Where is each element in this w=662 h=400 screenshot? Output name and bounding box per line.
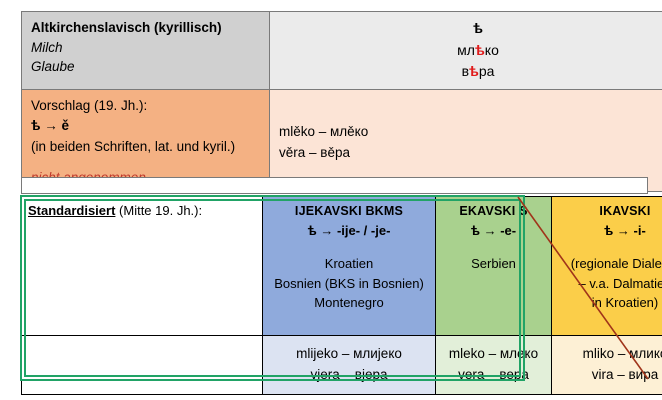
- ekavski-example-1: mleko – млеко: [442, 344, 545, 365]
- old-church-slavonic-label-cell: Altkirchenslavisch (kyrillisch) Milch Gl…: [22, 12, 270, 90]
- ikavski-name: IKAVSKI: [558, 202, 662, 221]
- word-mleko: млѣко: [279, 40, 662, 62]
- ikavski-examples-cell: mliko – млико vira – вира: [552, 336, 662, 395]
- proposal-example-1: mlěko – млěко: [279, 122, 662, 143]
- column-ekavski: EKAVSKI S ѣ → -e- Serbien: [436, 197, 552, 336]
- proposal-scope-note: (in beiden Schriften, lat. und kyril.): [31, 137, 260, 157]
- standardised-label-cell: Standardisiert (Mitte 19. Jh.):: [22, 197, 263, 336]
- ijekavski-regions: Kroatien Bosnien (BKS in Bosnien) Monten…: [269, 254, 429, 313]
- ijekavski-example-2: vjera – вјера: [269, 365, 429, 386]
- examples-empty-cell: [22, 336, 263, 395]
- ikavski-example-2: vira – вира: [558, 365, 662, 386]
- ekavski-examples-cell: mleko – млеко vera – вера: [436, 336, 552, 395]
- gloss-milch: Milch: [31, 38, 260, 58]
- ijekavski-name: IJEKAVSKI BKMS: [269, 202, 429, 221]
- ijekavski-examples-cell: mlijeko – млијеко vjera – вјера: [263, 336, 436, 395]
- table-row-dialect-examples: mlijeko – млијеко vjera – вјера mleko – …: [22, 336, 662, 395]
- gloss-glaube: Glaube: [31, 57, 260, 77]
- standardised-label: Standardisiert (Mitte 19. Jh.):: [28, 202, 256, 220]
- table-row-old-church-slavonic: Altkirchenslavisch (kyrillisch) Milch Gl…: [22, 12, 662, 90]
- old-church-slavonic-forms-cell: ѣ млѣко вѣра: [270, 12, 662, 90]
- standardised-label-bold: Standardisiert: [28, 203, 115, 218]
- ekavski-regions: Serbien: [442, 254, 545, 274]
- ekavski-rule: ѣ → -e-: [442, 221, 545, 241]
- yat-letter: ѣ: [279, 18, 662, 40]
- column-ijekavski: IJEKAVSKI BKMS ѣ → -ije- / -je- Kroatien…: [263, 197, 436, 336]
- ekavski-example-2: vera – вера: [442, 365, 545, 386]
- ikavski-rule: ѣ → -i-: [558, 221, 662, 241]
- old-church-slavonic-title: Altkirchenslavisch (kyrillisch): [31, 18, 260, 38]
- empty-separator-row: [21, 177, 648, 194]
- proposal-spacer: [31, 157, 260, 170]
- ijekavski-rule: ѣ → -ije- / -je-: [269, 221, 429, 241]
- history-table: Altkirchenslavisch (kyrillisch) Milch Gl…: [21, 11, 662, 192]
- ikavski-example-1: mliko – млико: [558, 344, 662, 365]
- table-row-dialect-headers: Standardisiert (Mitte 19. Jh.): IJEKAVSK…: [22, 197, 662, 336]
- slide-canvas: Altkirchenslavisch (kyrillisch) Milch Gl…: [0, 0, 662, 400]
- ekavski-name: EKAVSKI S: [442, 202, 545, 221]
- word-vera: вѣра: [279, 61, 662, 83]
- proposal-rule: ѣ → ě: [31, 116, 260, 136]
- ijekavski-example-1: mlijeko – млијеко: [269, 344, 429, 365]
- proposal-example-2: věra – вěра: [279, 143, 662, 164]
- column-ikavski: IKAVSKI ѣ → -i- (regionale Dialekte – v.…: [552, 197, 662, 336]
- standardised-table: Standardisiert (Mitte 19. Jh.): IJEKAVSK…: [21, 196, 662, 395]
- standardised-label-rest: (Mitte 19. Jh.):: [115, 203, 202, 218]
- proposal-line-1: Vorschlag (19. Jh.):: [31, 96, 260, 116]
- ikavski-regions: (regionale Dialekte – v.a. Dalmatien in …: [558, 254, 662, 313]
